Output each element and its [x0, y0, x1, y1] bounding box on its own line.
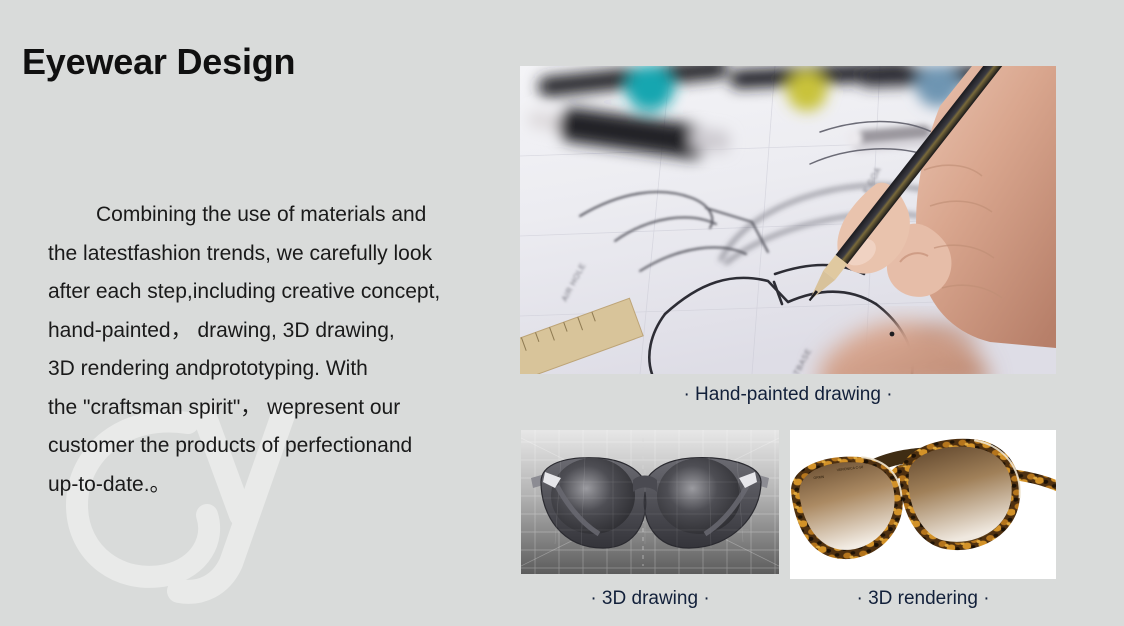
- body-line: 3D rendering andprototyping. With: [48, 350, 500, 389]
- page-title: Eyewear Design: [22, 41, 295, 83]
- body-line: up-to-date.。: [48, 466, 500, 505]
- caption-3d-drawing: · 3D drawing ·: [521, 588, 779, 610]
- caption-hand-painted-drawing: · Hand-painted drawing ·: [520, 384, 1056, 406]
- body-line: Combining the use of materials and: [48, 196, 500, 235]
- body-line: the "craftsman spirit"， wepresent our: [48, 389, 500, 428]
- caption-3d-rendering: · 3D rendering ·: [790, 588, 1056, 610]
- body-line: after each step,including creative conce…: [48, 273, 500, 312]
- body-line: the latestfashion trends, we carefully l…: [48, 235, 500, 274]
- body-paragraph: Combining the use of materials and the l…: [48, 196, 500, 504]
- slide-canvas: Eyewear Design Combining the use of mate…: [0, 0, 1124, 626]
- image-3d-rendering: GRMN VERONICA C-58 LUNARY: [790, 430, 1056, 579]
- image-3d-drawing: [521, 430, 779, 574]
- body-line: customer the products of perfectionand: [48, 427, 500, 466]
- image-hand-painted-drawing: AIR HOLE NUB PIN TBASE E.GOA: [520, 66, 1056, 374]
- body-line: hand-painted， drawing, 3D drawing,: [48, 312, 500, 351]
